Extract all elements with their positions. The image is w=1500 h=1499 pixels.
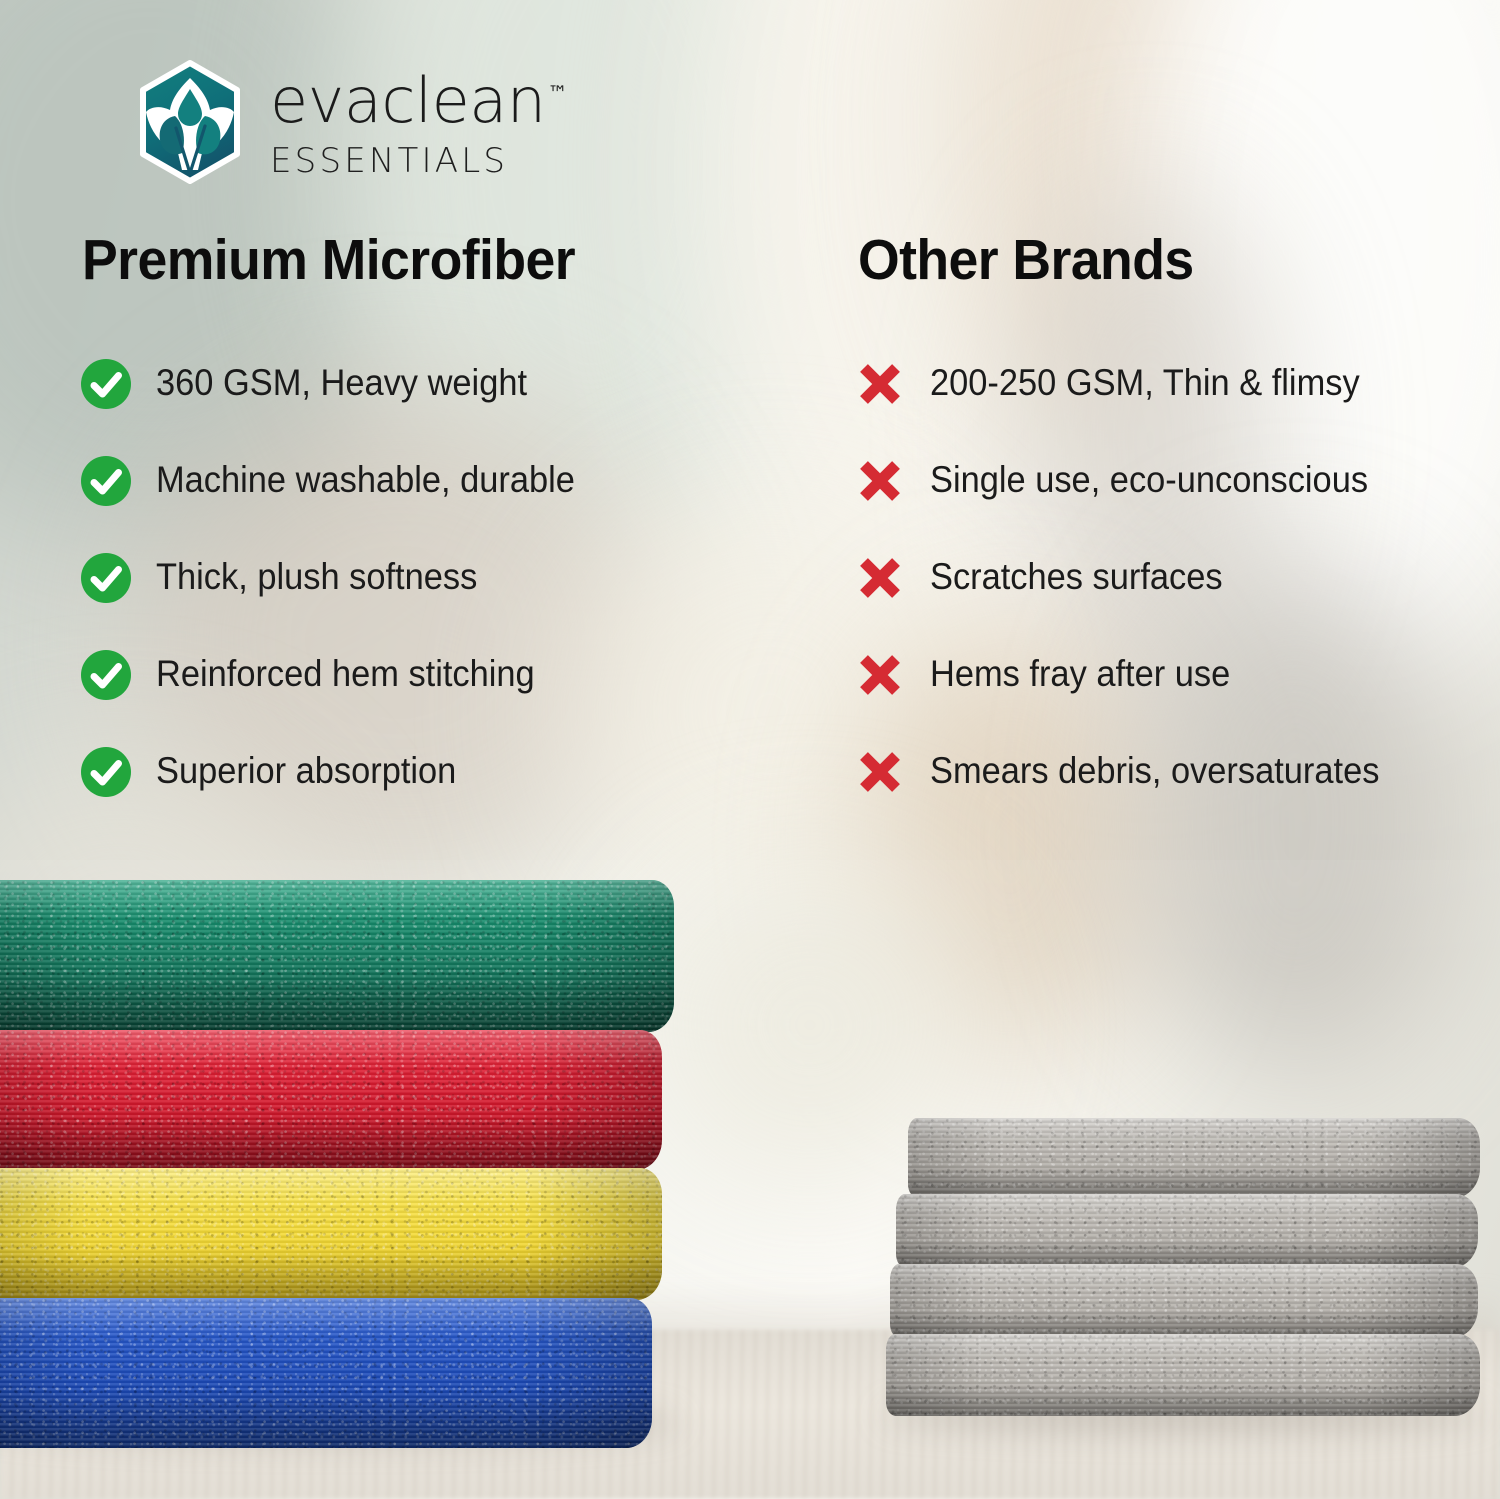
- feature-label: Machine washable, durable: [156, 460, 575, 501]
- towel-gray: [890, 1264, 1478, 1338]
- towel-red: [0, 1030, 662, 1170]
- green-check-circle-icon: [80, 746, 132, 798]
- list-item: 360 GSM, Heavy weight: [80, 335, 780, 432]
- feature-label: Scratches surfaces: [930, 557, 1223, 598]
- premium-microfiber-column: Premium Microfiber 360 GSM, Heavy weight: [80, 232, 780, 820]
- green-check-circle-icon: [80, 649, 132, 701]
- other-brand-towel-stack: [886, 1118, 1486, 1418]
- other-brands-column-title: Other Brands: [858, 232, 1439, 289]
- list-item: Machine washable, durable: [80, 432, 780, 529]
- brand-name: evaclean™: [270, 70, 567, 132]
- other-brands-column: Other Brands 200-250 GSM, Thin & flimsy …: [856, 232, 1476, 820]
- list-item: 200-250 GSM, Thin & flimsy: [856, 335, 1476, 432]
- towel-green: [0, 880, 674, 1032]
- product-comparison-infographic: evaclean™ ESSENTIALS Premium Microfiber …: [0, 0, 1500, 1499]
- list-item: Scratches surfaces: [856, 529, 1476, 626]
- list-item: Smears debris, oversaturates: [856, 723, 1476, 820]
- feature-label: Smears debris, oversaturates: [930, 751, 1379, 792]
- red-x-icon: [856, 651, 904, 699]
- brand-wordmark: evaclean™ ESSENTIALS: [270, 66, 567, 178]
- list-item: Thick, plush softness: [80, 529, 780, 626]
- feature-label: 360 GSM, Heavy weight: [156, 363, 527, 404]
- green-check-circle-icon: [80, 552, 132, 604]
- green-check-circle-icon: [80, 455, 132, 507]
- premium-feature-list: 360 GSM, Heavy weight Machine washable, …: [80, 335, 780, 820]
- brand-logo-lockup: evaclean™ ESSENTIALS: [126, 58, 567, 186]
- towel-gray: [896, 1194, 1478, 1268]
- premium-column-title: Premium Microfiber: [82, 232, 738, 289]
- hexagon-droplet-leaves-logo-icon: [126, 58, 254, 186]
- feature-label: Hems fray after use: [930, 654, 1230, 695]
- list-item: Superior absorption: [80, 723, 780, 820]
- red-x-icon: [856, 457, 904, 505]
- feature-label: 200-250 GSM, Thin & flimsy: [930, 363, 1360, 404]
- red-x-icon: [856, 748, 904, 796]
- red-x-icon: [856, 554, 904, 602]
- towel-gray: [908, 1118, 1480, 1198]
- feature-label: Superior absorption: [156, 751, 456, 792]
- list-item: Reinforced hem stitching: [80, 626, 780, 723]
- towel-blue: [0, 1298, 652, 1448]
- towel-gray: [886, 1334, 1480, 1416]
- towel-yellow: [0, 1168, 662, 1300]
- brand-name-text: evaclean: [270, 64, 546, 137]
- list-item: Single use, eco-unconscious: [856, 432, 1476, 529]
- feature-label: Thick, plush softness: [156, 557, 477, 598]
- green-check-circle-icon: [80, 358, 132, 410]
- red-x-icon: [856, 360, 904, 408]
- brand-subtitle: ESSENTIALS: [270, 144, 567, 178]
- feature-label: Reinforced hem stitching: [156, 654, 535, 695]
- feature-label: Single use, eco-unconscious: [930, 460, 1368, 501]
- other-brands-feature-list: 200-250 GSM, Thin & flimsy Single use, e…: [856, 335, 1476, 820]
- list-item: Hems fray after use: [856, 626, 1476, 723]
- premium-microfiber-towel-stack: [0, 880, 690, 1425]
- trademark-symbol: ™: [548, 81, 568, 105]
